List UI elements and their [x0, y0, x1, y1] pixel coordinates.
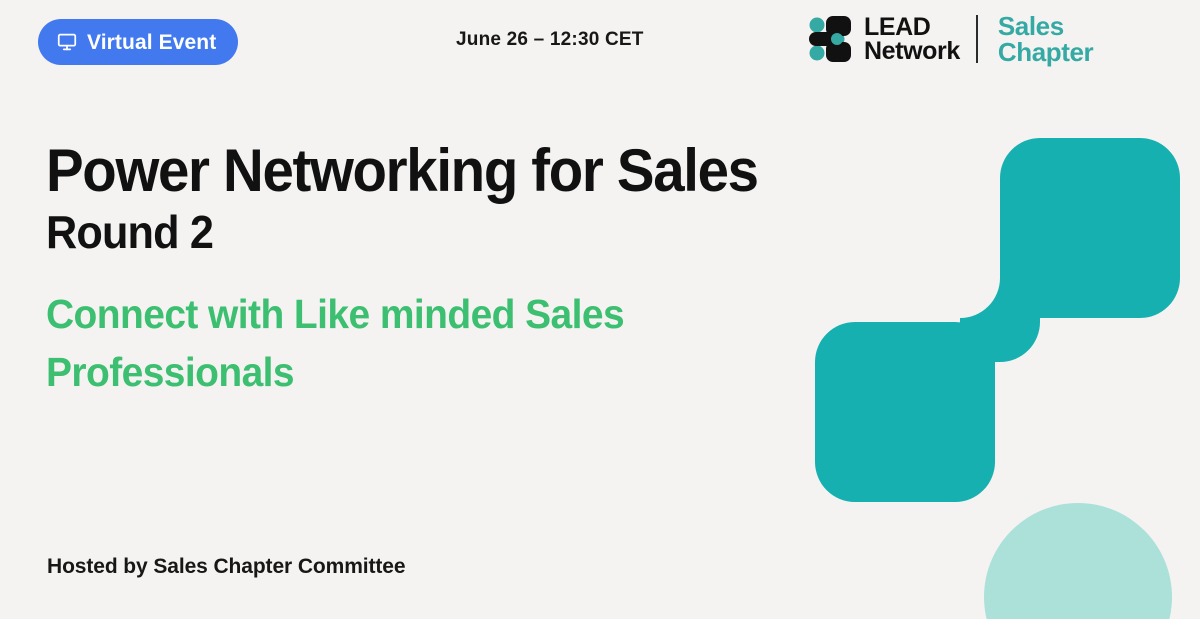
virtual-event-badge[interactable]: Virtual Event — [38, 19, 238, 65]
logo-chapter-name: Sales Chapter — [998, 13, 1093, 65]
lead-network-nodes-icon — [806, 14, 854, 64]
headline-block: Power Networking for Sales Round 2 — [46, 140, 806, 257]
hosted-by-text: Hosted by Sales Chapter Committee — [47, 555, 405, 579]
logo-wordmark: LEAD Network — [864, 15, 960, 64]
presentation-screen-icon — [56, 31, 78, 53]
tagline: Connect with Like minded Sales Professio… — [46, 285, 711, 401]
logo-name-line2: Network — [864, 39, 960, 64]
page-subtitle: Round 2 — [46, 208, 760, 256]
logo-chapter-line2: Chapter — [998, 39, 1093, 65]
lead-network-sales-chapter-logo: LEAD Network Sales Chapter — [806, 10, 1093, 68]
virtual-event-badge-label: Virtual Event — [87, 32, 216, 53]
logo-chapter-line1: Sales — [998, 13, 1093, 39]
light-teal-circle-shape — [984, 503, 1172, 619]
teal-connected-squares-shape — [810, 130, 1190, 515]
page-title: Power Networking for Sales — [46, 140, 760, 202]
event-date-time: June 26 – 12:30 CET — [456, 29, 644, 51]
event-banner: Virtual Event June 26 – 12:30 CET LEAD N… — [0, 0, 1200, 619]
logo-divider — [976, 15, 978, 63]
logo-name-line1: LEAD — [864, 15, 960, 40]
